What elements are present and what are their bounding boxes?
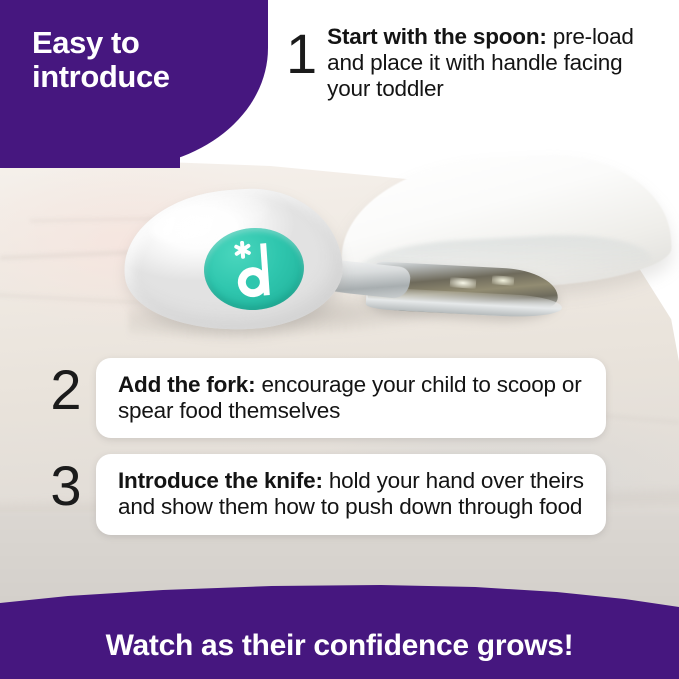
doddl-d-asterisk-logo-icon — [230, 238, 280, 301]
spoon-highlight — [492, 275, 515, 286]
step-1-heading: Start with the spoon: — [327, 24, 547, 49]
step-3-text: Introduce the knife: hold your hand over… — [118, 468, 588, 520]
step-1: 1 Start with the spoon: pre-load and pla… — [286, 24, 668, 102]
top-banner-title: Easy to introduce — [32, 26, 242, 94]
step-2-number: 2 — [36, 364, 96, 416]
step-3: 3 Introduce the knife: hold your hand ov… — [36, 454, 606, 535]
product-instruction-poster: Easy to introduce 1 Start with the spoon… — [0, 0, 679, 679]
spoon-highlight — [450, 277, 477, 289]
step-2: 2 Add the fork: encourage your child to … — [36, 358, 606, 438]
step-1-text: Start with the spoon: pre-load and place… — [327, 24, 668, 102]
step-3-number: 3 — [36, 460, 96, 512]
bottom-banner-text: Watch as their confidence grows! — [0, 629, 679, 663]
step-2-heading: Add the fork: — [118, 372, 255, 397]
step-3-card: Introduce the knife: hold your hand over… — [96, 454, 606, 535]
step-3-heading: Introduce the knife: — [118, 468, 323, 493]
step-1-number: 1 — [286, 28, 317, 80]
step-2-card: Add the fork: encourage your child to sc… — [96, 358, 606, 438]
step-2-text: Add the fork: encourage your child to sc… — [118, 372, 588, 424]
